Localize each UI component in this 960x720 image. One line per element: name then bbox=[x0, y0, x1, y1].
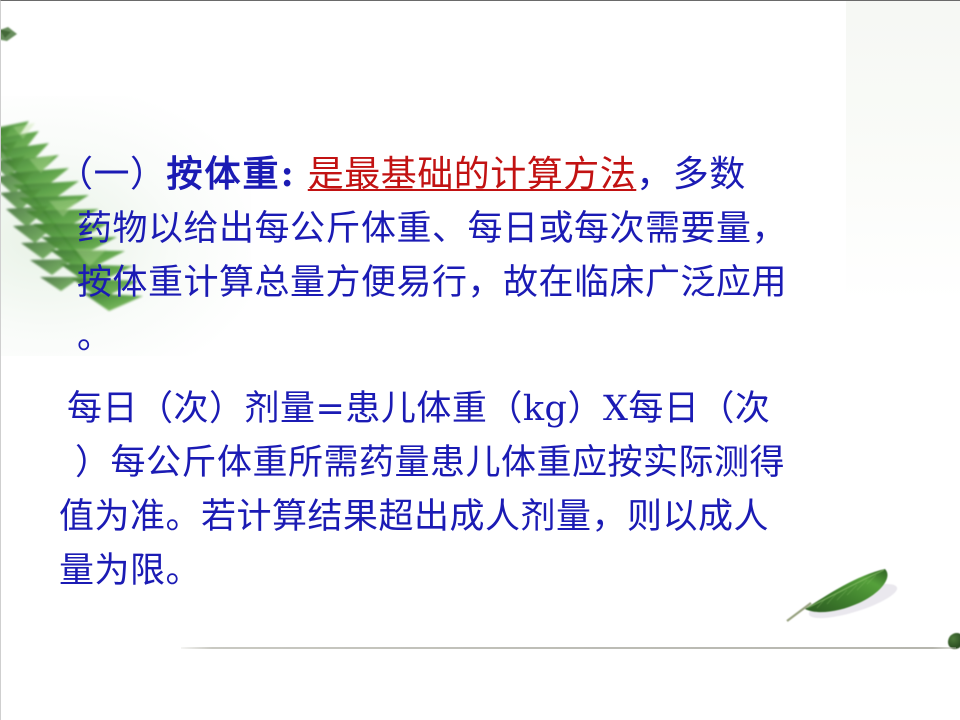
paragraph-two-line-4: 量为限。 bbox=[47, 544, 937, 598]
corner-leaf-tip-icon bbox=[0, 23, 29, 49]
paragraph-one-line-2: 药物以给出每公斤体重、每日或每次需要量， bbox=[47, 202, 937, 256]
paragraph-one-line-1: （一）按体重: 是最基础的计算方法，多数 bbox=[47, 147, 937, 202]
paragraph-spacer bbox=[47, 364, 937, 382]
horizontal-divider-rule bbox=[181, 647, 956, 649]
paragraph-one-highlight: 是最基础的计算方法 bbox=[308, 154, 637, 195]
paragraph-two-line-3: 值为准。若计算结果超出成人剂量，则以成人 bbox=[47, 490, 937, 544]
leaf-tip-dot-decoration bbox=[948, 633, 960, 649]
paragraph-two: 每日（次）剂量=患儿体重（kg）X每日（次 ）每公斤体重所需药量患儿体重应按实际… bbox=[47, 382, 937, 598]
slide-body-text: （一）按体重: 是最基础的计算方法，多数 药物以给出每公斤体重、每日或每次需要量… bbox=[47, 147, 937, 598]
paragraph-one: （一）按体重: 是最基础的计算方法，多数 药物以给出每公斤体重、每日或每次需要量… bbox=[47, 147, 937, 364]
paragraph-one-suffix: ，多数 bbox=[636, 154, 746, 195]
paragraph-one-heading: 按体重: bbox=[167, 153, 296, 195]
paragraph-two-line-2: ）每公斤体重所需药量患儿体重应按实际测得 bbox=[47, 436, 937, 490]
paragraph-two-line-1: 每日（次）剂量=患儿体重（kg）X每日（次 bbox=[47, 382, 937, 436]
paragraph-one-prefix: （一） bbox=[57, 154, 167, 195]
paragraph-one-line-4: 。 bbox=[47, 310, 937, 364]
slide-canvas: （一）按体重: 是最基础的计算方法，多数 药物以给出每公斤体重、每日或每次需要量… bbox=[0, 0, 960, 720]
paragraph-one-line-3: 按体重计算总量方便易行，故在临床广泛应用 bbox=[47, 256, 937, 310]
